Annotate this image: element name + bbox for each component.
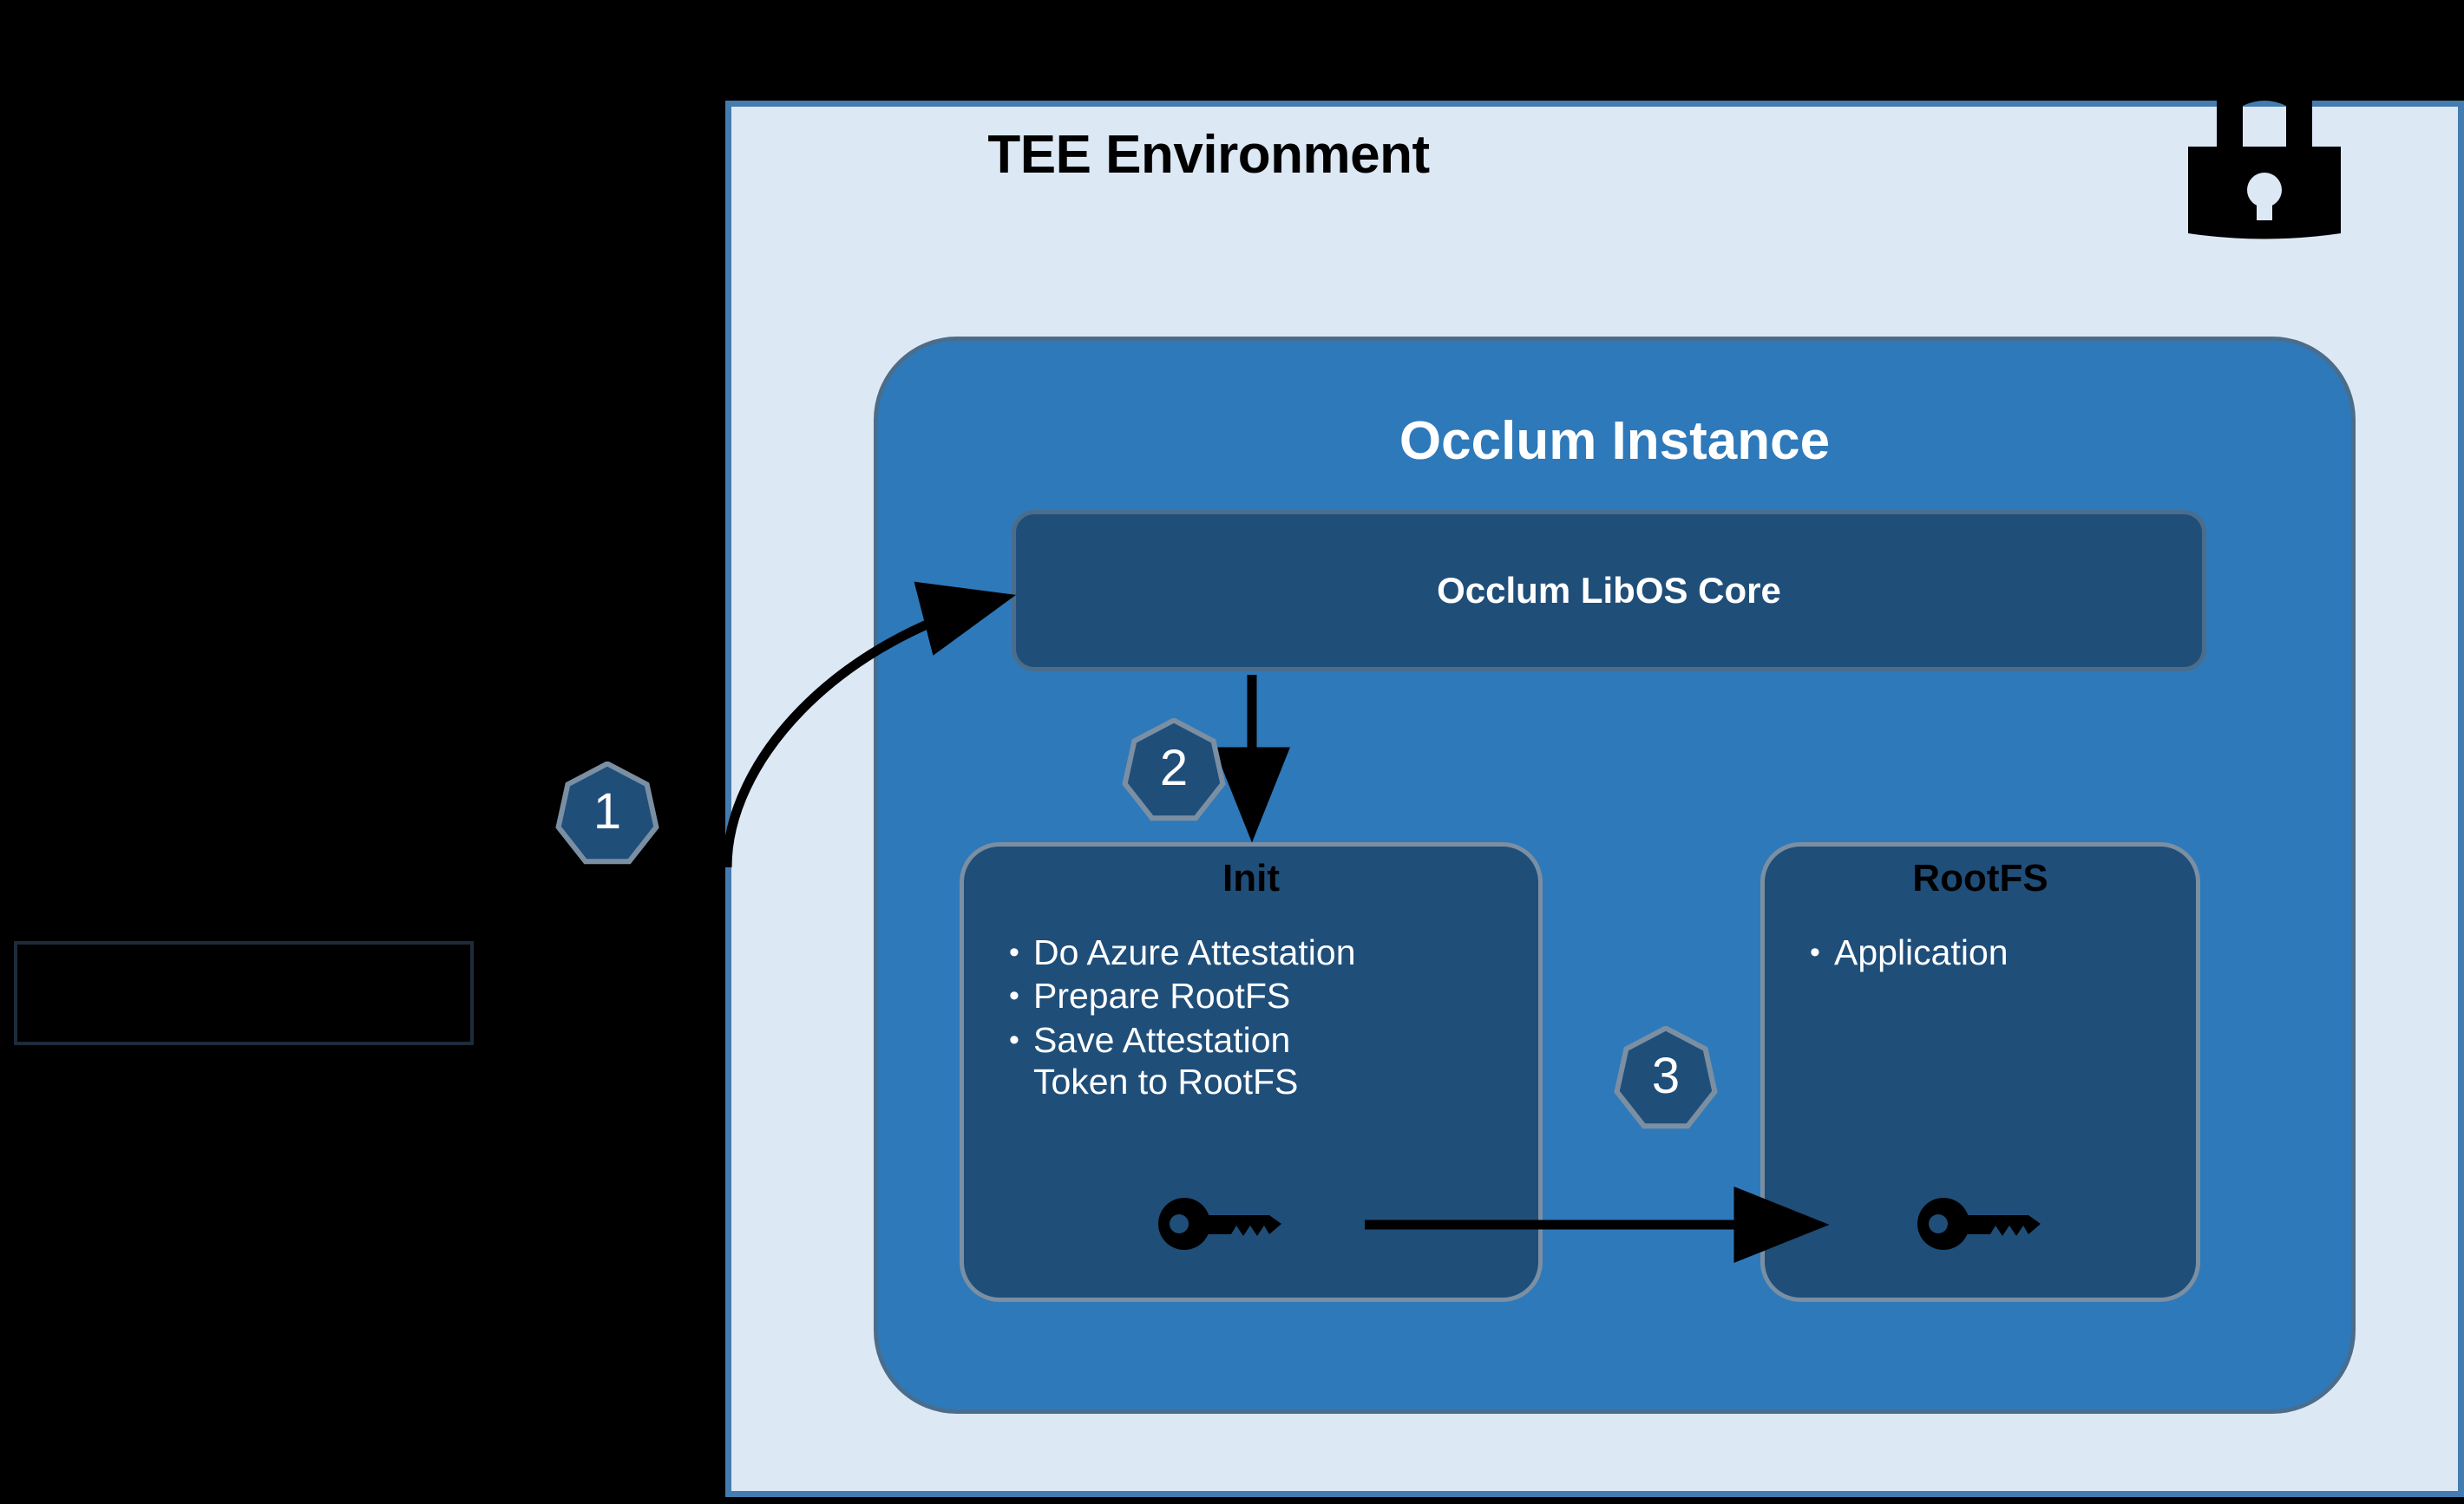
step-badge-3-number: 3 (1652, 1051, 1680, 1105)
list-item: • Application (1796, 932, 2180, 973)
padlock-icon (2169, 90, 2360, 251)
rootfs-title: RootFS (1765, 857, 2196, 900)
step-badge-3: 3 (1614, 1026, 1718, 1130)
occlum-instance-title: Occlum Instance (878, 410, 2351, 472)
left-placeholder-box (14, 941, 474, 1045)
bullet-glyph: • (995, 932, 1033, 973)
list-item: • Do Azure Attestation (995, 932, 1523, 973)
key-icon (1158, 1196, 1297, 1252)
occlum-libos-core-box: Occlum LibOS Core (1012, 510, 2206, 671)
init-bullet-list: • Do Azure Attestation • Prepare RootFS … (995, 932, 1523, 1105)
step-badge-2-number: 2 (1160, 743, 1188, 797)
list-item-label: Prepare RootFS (1033, 975, 1523, 1017)
step-badge-1: 1 (555, 762, 659, 866)
bullet-glyph: • (995, 975, 1033, 1017)
init-title: Init (964, 857, 1538, 900)
list-item: • Save Attestation Token to RootFS (995, 1019, 1523, 1103)
occlum-libos-core-label: Occlum LibOS Core (1437, 570, 1781, 611)
bullet-glyph: • (1796, 932, 1834, 973)
key-icon (1917, 1196, 2056, 1252)
tee-environment-title: TEE Environment (731, 124, 1686, 186)
list-item: • Prepare RootFS (995, 975, 1523, 1017)
rootfs-bullet-list: • Application (1796, 932, 2180, 975)
step-badge-1-number: 1 (593, 787, 621, 840)
list-item-label: Save Attestation Token to RootFS (1033, 1019, 1523, 1103)
list-item-label: Do Azure Attestation (1033, 932, 1523, 973)
step-badge-2: 2 (1122, 718, 1226, 822)
list-item-label: Application (1834, 932, 2180, 973)
bullet-glyph: • (995, 1019, 1033, 1061)
